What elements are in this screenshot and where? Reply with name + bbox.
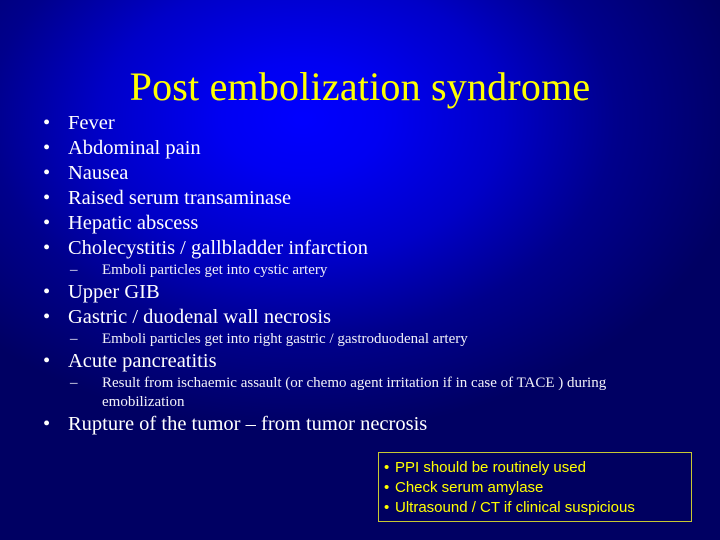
dash-marker-icon: – [70,330,84,349]
list-item-label: Acute pancreatitis [68,350,217,372]
bullet-list: •Fever •Abdominal pain •Nausea •Raised s… [36,111,696,437]
list-item: •Rupture of the tumor – from tumor necro… [36,412,696,437]
callout-note: •PPI should be routinely used [384,458,691,478]
list-item-label: Cholecystitis / gallbladder infarction [68,237,368,259]
bullet-marker-icon: • [43,161,55,186]
callout-note: •Ultrasound / CT if clinical suspicious [384,498,691,518]
list-item: •Fever [36,111,696,136]
list-item-label: Raised serum transaminase [68,187,291,209]
list-item: •Gastric / duodenal wall necrosis [36,305,696,330]
list-item-label: Fever [68,112,115,134]
bullet-marker-icon: • [43,280,55,305]
list-item: •Hepatic abscess [36,211,696,236]
list-item-label: Nausea [68,162,128,184]
list-item: •Cholecystitis / gallbladder infarction [36,236,696,261]
list-item: •Raised serum transaminase [36,186,696,211]
bullet-marker-icon: • [384,458,389,478]
list-item-label: Upper GIB [68,281,160,303]
bullet-marker-icon: • [43,305,55,330]
sub-list-item: –Emboli particles get into right gastric… [36,330,696,349]
bullet-marker-icon: • [43,236,55,261]
sub-list-item-label: Emboli particles get into cystic artery [102,261,327,280]
dash-marker-icon: – [70,261,84,280]
list-item: •Nausea [36,161,696,186]
dash-marker-icon: – [70,374,84,393]
list-item: •Acute pancreatitis [36,349,696,374]
callout-box: •PPI should be routinely used •Check ser… [378,452,692,522]
sub-list-item: –Emboli particles get into cystic artery [36,261,696,280]
list-item-label: Hepatic abscess [68,212,198,234]
bullet-marker-icon: • [43,136,55,161]
bullet-marker-icon: • [43,349,55,374]
page-title: Post embolization syndrome [0,63,720,111]
list-item-label: Rupture of the tumor – from tumor necros… [68,413,427,435]
bullet-marker-icon: • [384,478,389,498]
callout-note-label: Check serum amylase [395,479,543,496]
callout-note: •Check serum amylase [384,478,691,498]
bullet-marker-icon: • [43,186,55,211]
sub-list-item-label: Emboli particles get into right gastric … [102,330,468,349]
list-item-label: Gastric / duodenal wall necrosis [68,306,331,328]
callout-note-label: Ultrasound / CT if clinical suspicious [395,499,635,516]
list-item: •Upper GIB [36,280,696,305]
sub-list-item-label: Result from ischaemic assault (or chemo … [102,374,662,412]
callout-note-label: PPI should be routinely used [395,459,586,476]
sub-list-item: –Result from ischaemic assault (or chemo… [36,374,696,412]
bullet-marker-icon: • [43,211,55,236]
slide-canvas: Post embolization syndrome •Fever •Abdom… [0,0,720,540]
bullet-marker-icon: • [43,111,55,136]
list-item: •Abdominal pain [36,136,696,161]
list-item-label: Abdominal pain [68,137,201,159]
bullet-marker-icon: • [384,498,389,518]
bullet-marker-icon: • [43,412,55,437]
